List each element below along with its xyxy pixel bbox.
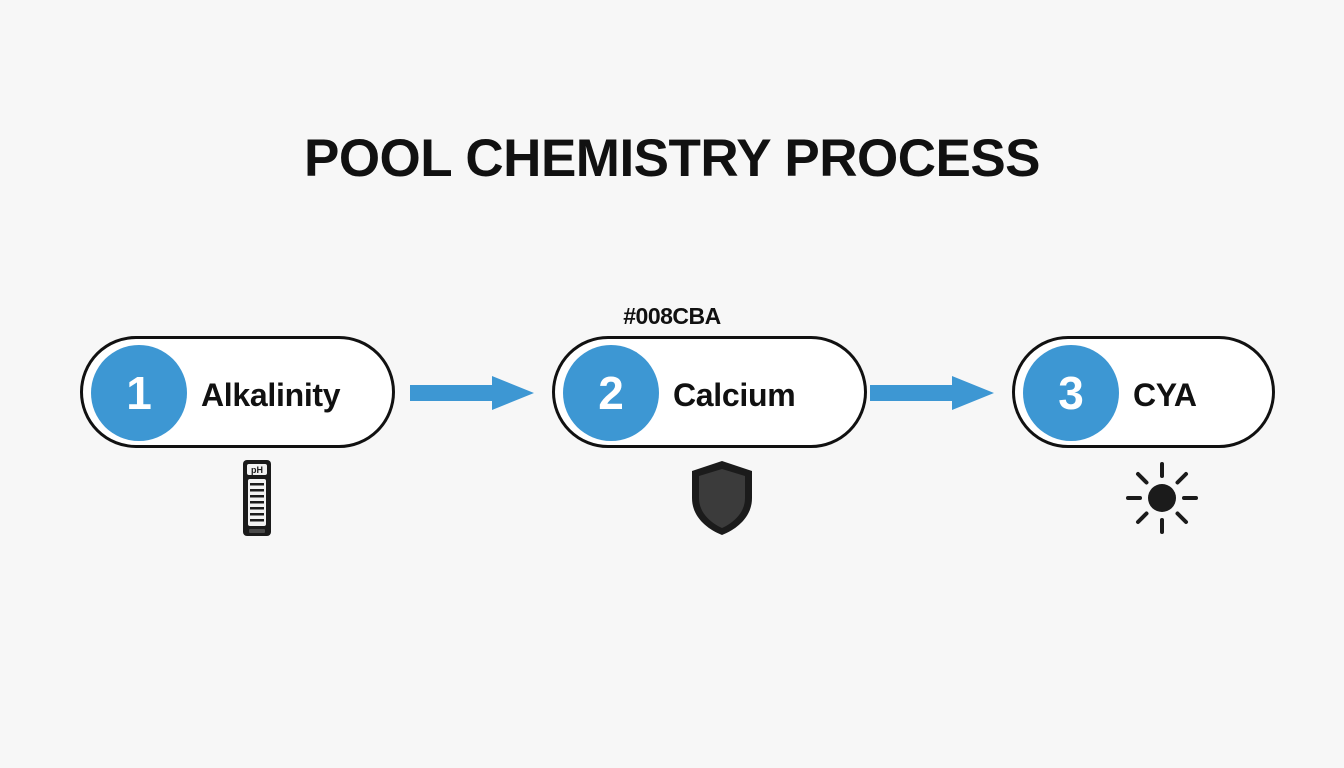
arrow-right-icon-2 (870, 376, 994, 410)
ph-test-strip-icon: pH (212, 452, 302, 544)
arrow-right-icon-1 (410, 376, 534, 410)
page-title: POOL CHEMISTRY PROCESS (0, 128, 1344, 189)
process-step-1[interactable]: 1 Alkalinity (80, 336, 395, 448)
step-number-badge-1: 1 (91, 345, 187, 441)
process-step-2[interactable]: 2 Calcium (552, 336, 867, 448)
step-label-3: CYA (1133, 339, 1197, 451)
step-label-1: Alkalinity (201, 339, 340, 451)
process-flow: 1 Alkalinity 2 Calcium 3 CYA (80, 336, 1275, 448)
sun-icon (1117, 452, 1207, 544)
shield-icon (676, 452, 768, 544)
step-number-badge-3: 3 (1023, 345, 1119, 441)
svg-text:pH: pH (251, 465, 263, 475)
color-code-caption: #008CBA (0, 303, 1344, 330)
diagram-canvas: POOL CHEMISTRY PROCESS #008CBA 1 Alkalin… (0, 0, 1344, 768)
step-number-badge-2: 2 (563, 345, 659, 441)
step-label-2: Calcium (673, 339, 795, 451)
process-step-3[interactable]: 3 CYA (1012, 336, 1275, 448)
